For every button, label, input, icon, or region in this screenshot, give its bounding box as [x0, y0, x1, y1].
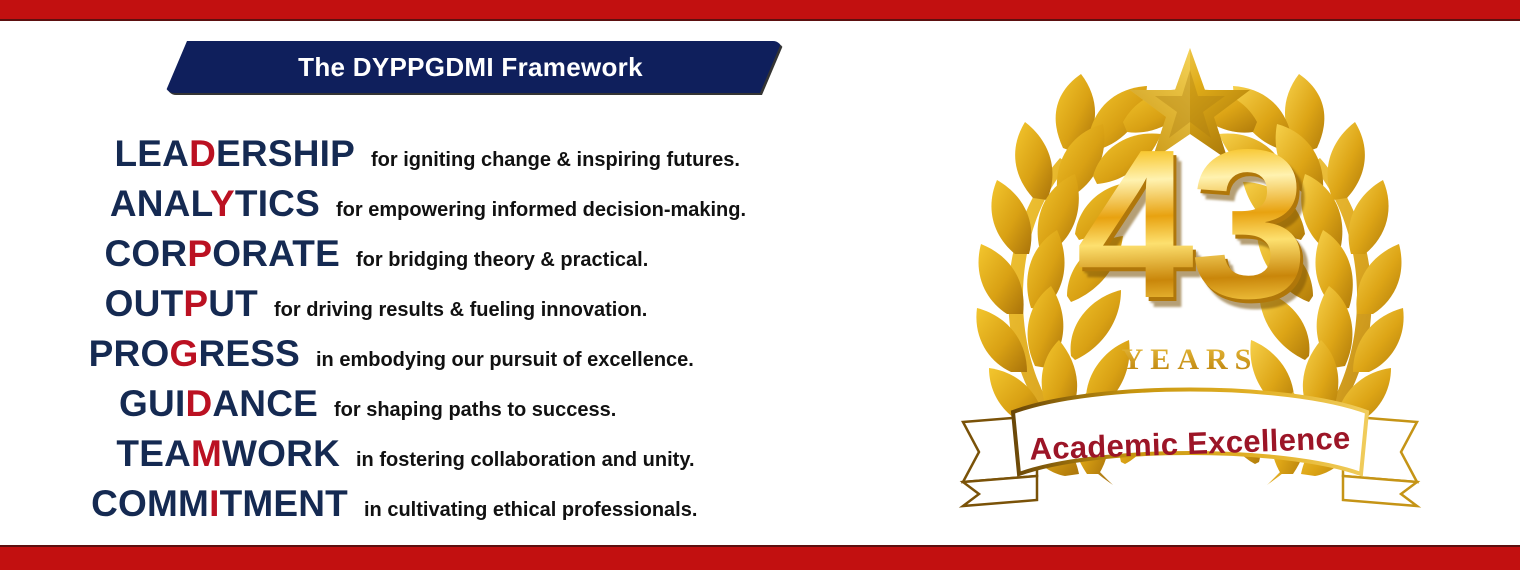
keyword-post: RESS: [198, 333, 300, 374]
keyword-post: ORATE: [212, 233, 340, 274]
keyword-highlight-letter: P: [187, 233, 212, 274]
framework-keyword: OUTPUT: [0, 283, 258, 325]
anniversary-emblem: 43 YEARS Academic Excellence: [945, 30, 1435, 535]
page-title: The DYPPGDMI Framework: [298, 52, 643, 83]
keyword-pre: PRO: [89, 333, 170, 374]
title-banner: The DYPPGDMI Framework: [165, 41, 782, 93]
keyword-highlight-letter: G: [169, 333, 198, 374]
framework-list: LEADERSHIP for igniting change & inspiri…: [0, 133, 935, 533]
framework-row: OUTPUT for driving results & fueling inn…: [0, 283, 935, 333]
keyword-highlight-letter: P: [183, 283, 208, 324]
framework-description: for bridging theory & practical.: [356, 249, 648, 272]
keyword-pre: COMM: [91, 483, 209, 524]
framework-row: COMMITMENT in cultivating ethical profes…: [0, 483, 935, 533]
keyword-post: TMENT: [220, 483, 348, 524]
keyword-pre: COR: [105, 233, 188, 274]
framework-row: CORPORATE for bridging theory & practica…: [0, 233, 935, 283]
framework-description: for igniting change & inspiring futures.: [371, 149, 740, 172]
keyword-highlight-letter: M: [191, 433, 222, 474]
framework-keyword: ANALYTICS: [0, 183, 320, 225]
framework-description: for empowering informed decision-making.: [336, 199, 746, 222]
bottom-red-bar: [0, 545, 1520, 570]
framework-row: ANALYTICS for empowering informed decisi…: [0, 183, 935, 233]
framework-description: in cultivating ethical professionals.: [364, 499, 697, 522]
framework-keyword: CORPORATE: [0, 233, 340, 275]
keyword-highlight-letter: D: [185, 383, 212, 424]
keyword-highlight-letter: I: [209, 483, 219, 524]
keyword-highlight-letter: D: [189, 133, 216, 174]
top-red-bar: [0, 0, 1520, 21]
keyword-highlight-letter: Y: [210, 183, 235, 224]
keyword-post: TICS: [235, 183, 320, 224]
framework-row: PROGRESS in embodying our pursuit of exc…: [0, 333, 935, 383]
keyword-post: WORK: [222, 433, 340, 474]
framework-description: in fostering collaboration and unity.: [356, 449, 695, 472]
framework-keyword: PROGRESS: [0, 333, 300, 375]
keyword-pre: ANAL: [110, 183, 210, 224]
keyword-pre: TEA: [116, 433, 191, 474]
framework-keyword: COMMITMENT: [0, 483, 348, 525]
ribbon-banner: [963, 390, 1417, 507]
poster-canvas: The DYPPGDMI Framework LEADERSHIP for ig…: [0, 0, 1520, 570]
keyword-pre: GUI: [119, 383, 185, 424]
framework-keyword: GUIDANCE: [0, 383, 318, 425]
framework-description: for shaping paths to success.: [334, 399, 616, 422]
framework-keyword: TEAMWORK: [0, 433, 340, 475]
framework-row: GUIDANCE for shaping paths to success.: [0, 383, 935, 433]
framework-description: for driving results & fueling innovation…: [274, 299, 647, 322]
keyword-pre: OUT: [105, 283, 184, 324]
keyword-pre: LEA: [115, 133, 190, 174]
framework-row: TEAMWORK in fostering collaboration and …: [0, 433, 935, 483]
framework-description: in embodying our pursuit of excellence.: [316, 349, 694, 372]
keyword-post: UT: [208, 283, 258, 324]
keyword-post: ERSHIP: [216, 133, 355, 174]
framework-row: LEADERSHIP for igniting change & inspiri…: [0, 133, 935, 183]
framework-keyword: LEADERSHIP: [0, 133, 355, 175]
keyword-post: ANCE: [212, 383, 318, 424]
